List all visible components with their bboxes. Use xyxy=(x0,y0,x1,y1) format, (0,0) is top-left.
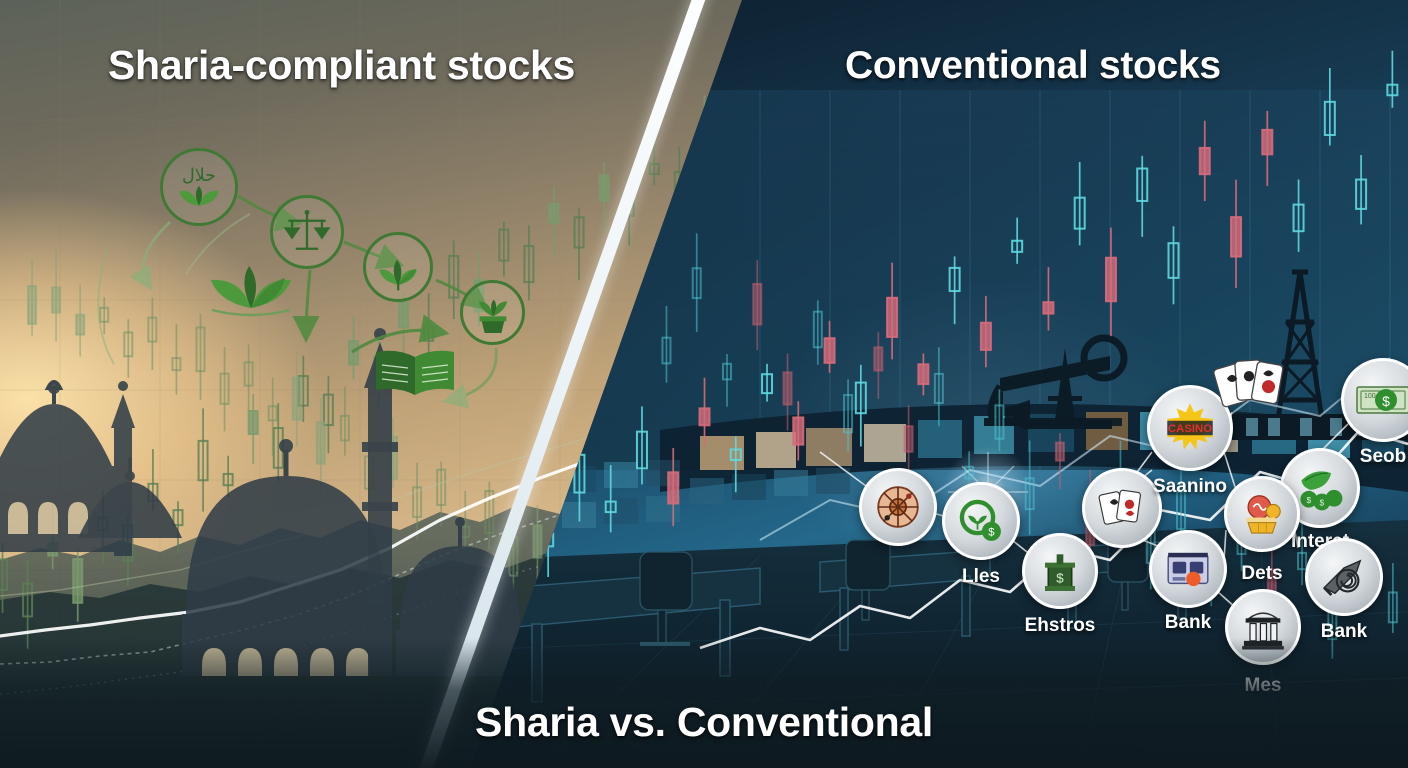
leaf-sprout-icon xyxy=(363,232,433,302)
svg-text:$: $ xyxy=(1382,393,1390,409)
svg-text:100: 100 xyxy=(1364,393,1376,400)
badge-label-bank-atm: Bank xyxy=(1165,612,1211,634)
svg-text:CASINO: CASINO xyxy=(1168,423,1212,435)
badge-label-dets: Dets xyxy=(1241,563,1282,585)
infographic-canvas: حلال xyxy=(0,0,1408,768)
badge-label-lles: Lles xyxy=(962,566,1000,588)
bottom-title: Sharia vs. Conventional xyxy=(475,699,933,746)
svg-text:$: $ xyxy=(1056,571,1064,586)
money-plant-icon: $ xyxy=(942,482,1020,560)
playing-cards-icon xyxy=(1082,468,1162,548)
svg-text:$: $ xyxy=(988,527,995,539)
oil-barrel-icon: $ xyxy=(1022,533,1098,609)
open-book-icon xyxy=(372,345,458,401)
badge-label-seob: Seob xyxy=(1360,446,1406,468)
svg-text:$: $ xyxy=(1306,495,1311,505)
potted-plant-icon xyxy=(460,280,525,345)
svg-text:حلال: حلال xyxy=(182,166,216,186)
badge-label-saanino: Saanino xyxy=(1153,476,1227,498)
gold-coins-icon xyxy=(1224,476,1300,552)
classical-column-icon xyxy=(1305,538,1383,616)
atm-machine-icon xyxy=(1149,530,1227,608)
badge-label-ehstros: Ehstros xyxy=(1025,615,1096,637)
left-title: Sharia-compliant stocks xyxy=(108,42,575,89)
right-title: Conventional stocks xyxy=(845,44,1221,88)
roulette-wheel-icon xyxy=(859,468,937,546)
leaf-cluster-icon xyxy=(196,250,306,318)
svg-text:$: $ xyxy=(1320,498,1325,508)
playing-cards-2-icon xyxy=(1210,345,1288,423)
halal-leaf-icon: حلال xyxy=(160,148,238,226)
